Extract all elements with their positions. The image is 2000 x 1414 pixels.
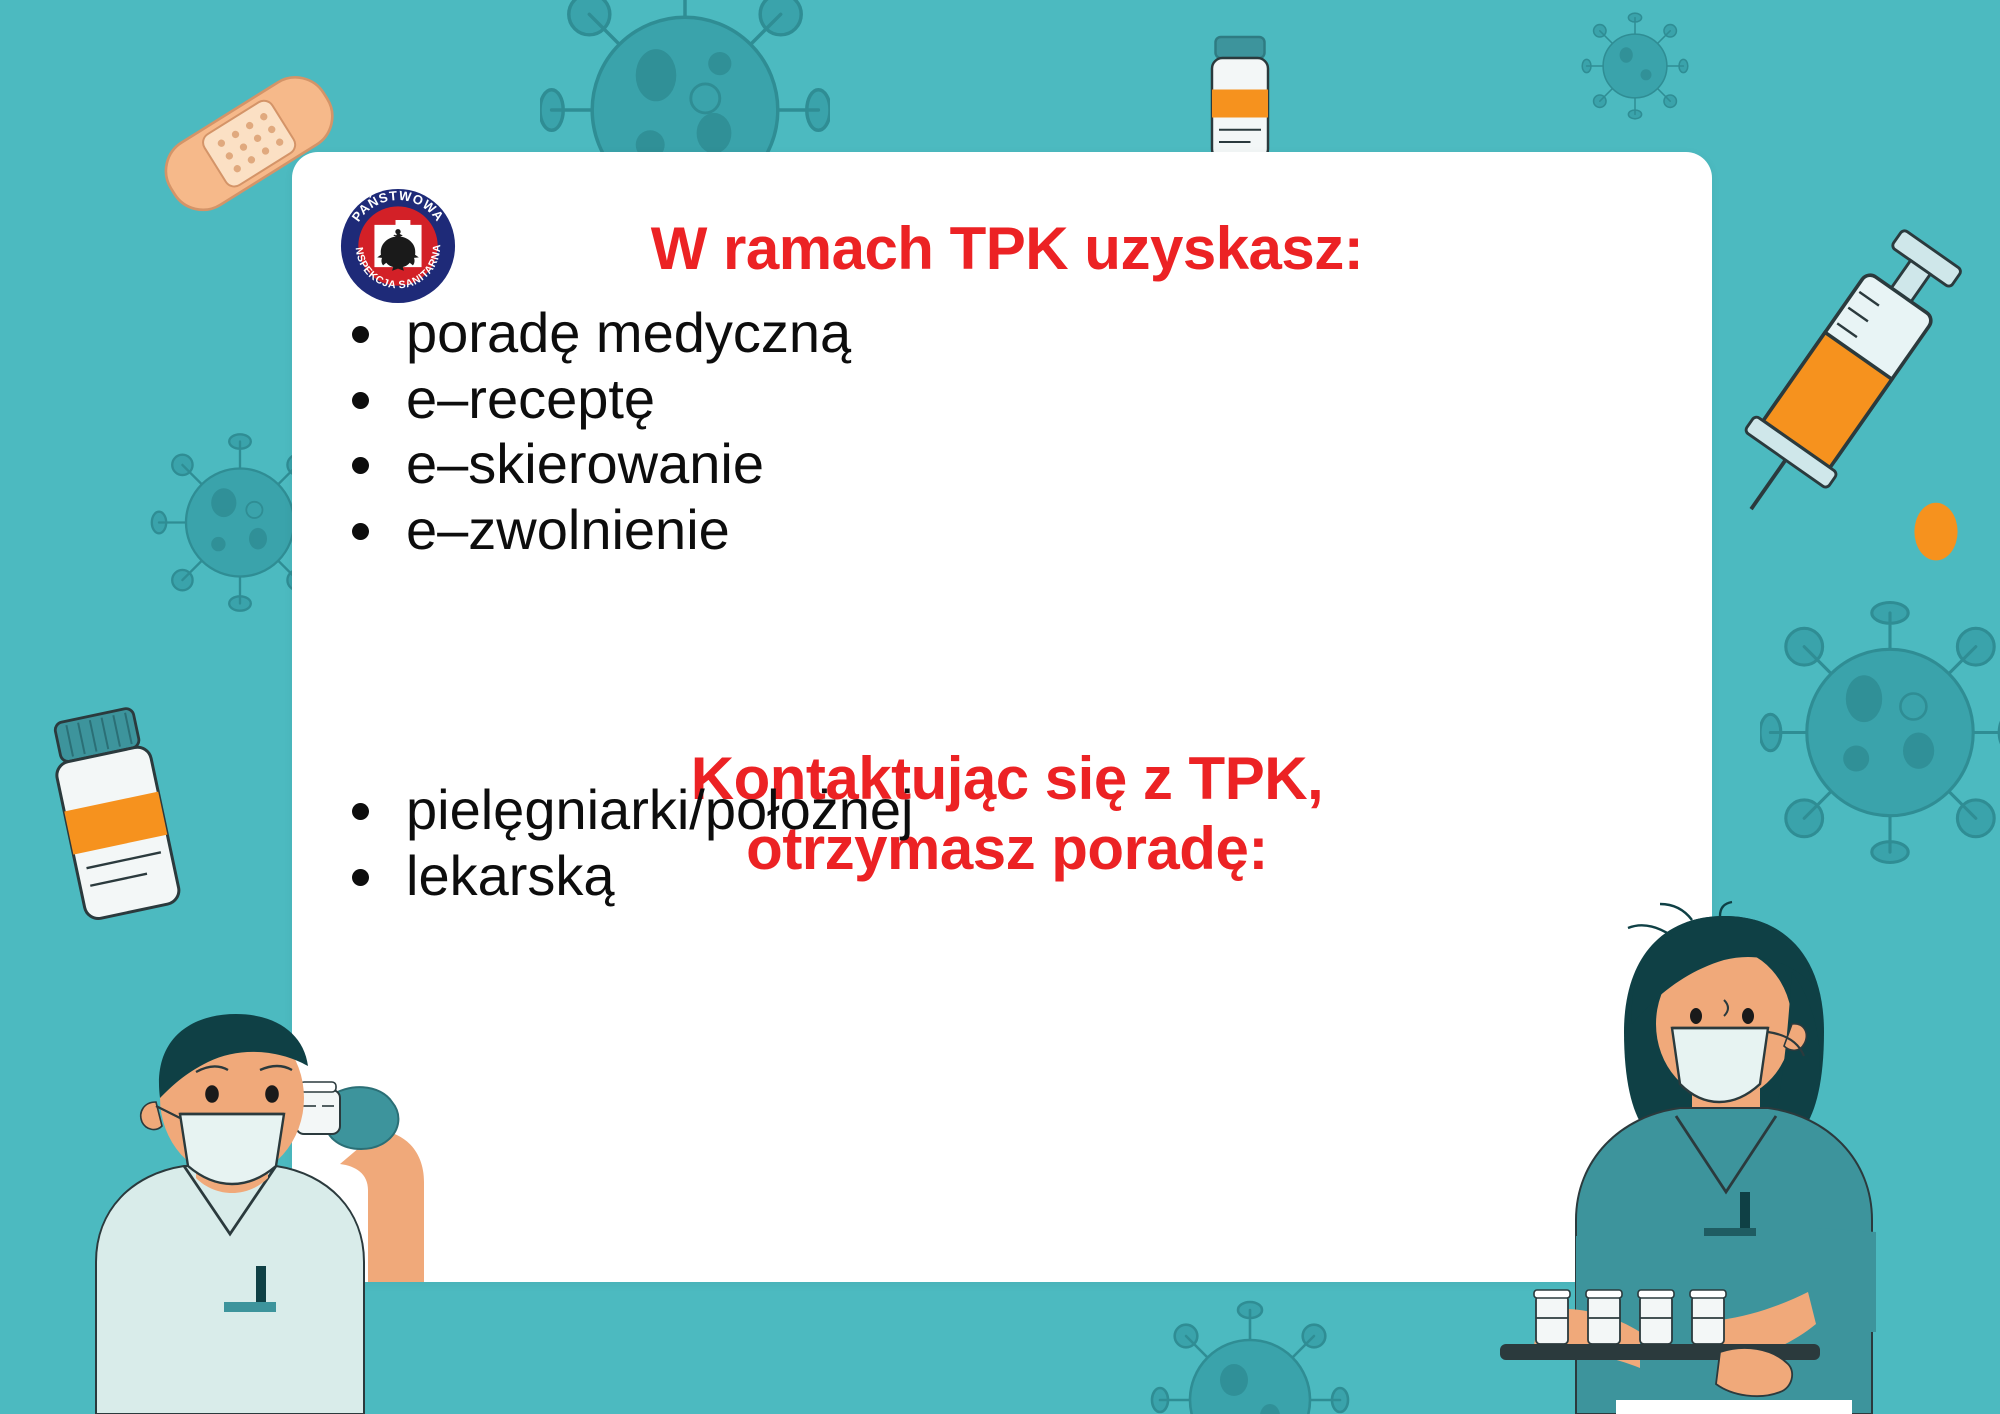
advice-sources-list: pielęgniarki/położnej lekarską bbox=[344, 777, 913, 908]
medicine-vial-icon bbox=[1185, 30, 1295, 170]
list-item: e–receptę bbox=[344, 366, 851, 432]
syringe-icon bbox=[1690, 210, 1990, 570]
heading-benefits: W ramach TPK uzyskasz: bbox=[472, 214, 1542, 284]
nurse-female-illustration bbox=[1500, 900, 1980, 1414]
list-item: pielęgniarki/położnej bbox=[344, 777, 913, 843]
virus-particle-icon bbox=[1580, 10, 1690, 122]
list-item: poradę medyczną bbox=[344, 300, 851, 366]
list-item: e–skierowanie bbox=[344, 431, 851, 497]
benefits-list: poradę medyczną e–receptę e–skierowanie … bbox=[344, 300, 851, 562]
poster: PAŃSTWOWA INSPEKCJA SANITARNA W ramach T… bbox=[0, 0, 2000, 1414]
doctor-male-illustration bbox=[80, 1010, 500, 1414]
content-card: PAŃSTWOWA INSPEKCJA SANITARNA W ramach T… bbox=[292, 152, 1712, 1282]
virus-particle-icon bbox=[1150, 1300, 1350, 1414]
virus-particle-icon bbox=[1760, 600, 2000, 865]
medicine-bottle-icon bbox=[30, 700, 210, 930]
panstwowa-inspekcja-sanitarna-logo: PAŃSTWOWA INSPEKCJA SANITARNA bbox=[336, 184, 460, 308]
list-item: e–zwolnienie bbox=[344, 497, 851, 563]
list-item: lekarską bbox=[344, 843, 913, 909]
